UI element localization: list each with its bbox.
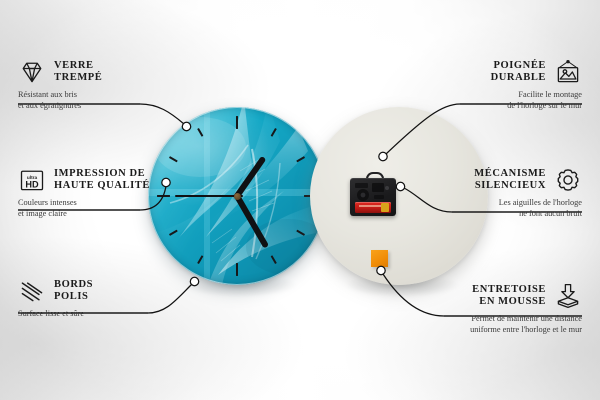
feature-sub-line2: ne font aucun bruit <box>474 209 582 219</box>
feature-sub-line1: Permet de maintenir une distance <box>470 314 582 324</box>
feature-title-line2: TREMPÉ <box>54 72 102 84</box>
feature-sub-line1: Facilite le montage <box>491 90 582 100</box>
feature-poignee-durable: POIGNÉE DURABLE Facilite le montage de l… <box>491 58 582 111</box>
feature-sub-line2: de l'horloge sur le mur <box>491 101 582 111</box>
feature-sub-line1: Résistant aux bris <box>18 90 102 100</box>
feature-title-line1: VERRE <box>54 60 102 72</box>
feature-title-line2: POLIS <box>54 291 93 303</box>
feature-impression-haute-qualite: ultra HD IMPRESSION DE HAUTE QUALITÉ Cou… <box>18 166 150 219</box>
feature-verre-trempe: VERRE TREMPÉ Résistant aux bris et aux é… <box>18 58 102 111</box>
feature-title-line2: SILENCIEUX <box>474 180 546 192</box>
feature-title-line1: BORDS <box>54 279 93 291</box>
feature-title-line1: MÉCANISME <box>474 168 546 180</box>
polished-edges-icon <box>18 277 46 305</box>
feature-entretoise-en-mousse: ENTRETOISE EN MOUSSE Permet de maintenir… <box>470 282 582 335</box>
feature-sub-line1: Surface lisse et sûre <box>18 309 93 319</box>
feature-sub-line2: et image claire <box>18 209 150 219</box>
foam-spacer-icon <box>554 282 582 310</box>
ultra-hd-icon: ultra HD <box>18 166 46 194</box>
feature-sub-line1: Les aiguilles de l'horloge <box>474 198 582 208</box>
infographic-stage: VERRE TREMPÉ Résistant aux bris et aux é… <box>0 0 600 400</box>
ultra-hd-icon-big-label: HD <box>25 179 39 189</box>
feature-title-line2: DURABLE <box>491 72 546 84</box>
diamond-icon <box>18 58 46 86</box>
feature-title-line2: EN MOUSSE <box>472 296 546 308</box>
hanging-frame-icon <box>554 58 582 86</box>
gear-icon <box>554 166 582 194</box>
feature-sub-line2: et aux égratignures <box>18 101 102 111</box>
feature-bords-polis: BORDS POLIS Surface lisse et sûre <box>18 277 93 319</box>
feature-sub-line1: Couleurs intenses <box>18 198 150 208</box>
feature-title-line1: IMPRESSION DE <box>54 168 150 180</box>
feature-title-line1: POIGNÉE <box>491 60 546 72</box>
feature-title-line2: HAUTE QUALITÉ <box>54 180 150 192</box>
feature-title-line1: ENTRETOISE <box>472 284 546 296</box>
feature-mecanisme-silencieux: MÉCANISME SILENCIEUX Les aiguilles de l'… <box>474 166 582 219</box>
feature-sub-line2: uniforme entre l'horloge et le mur <box>470 325 582 335</box>
